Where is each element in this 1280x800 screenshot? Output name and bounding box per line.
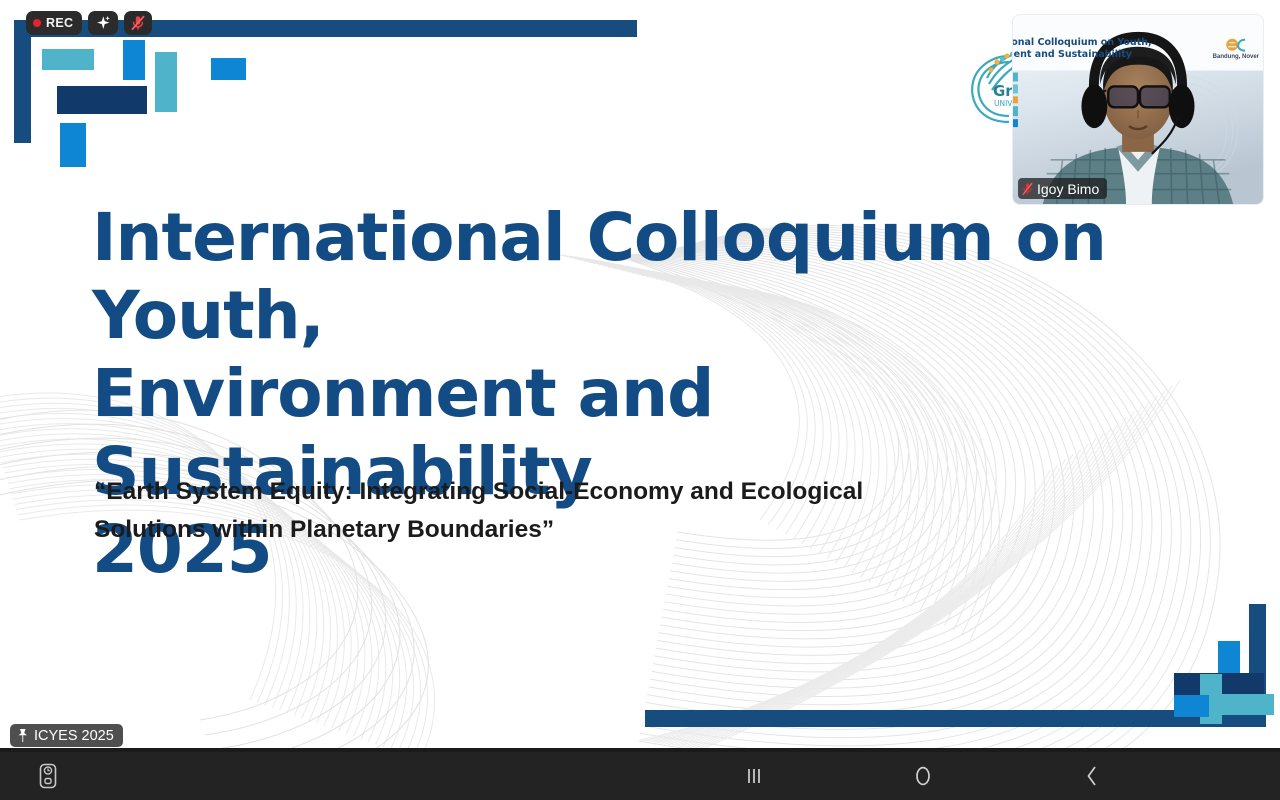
recents-icon [743, 765, 765, 787]
pip-background-venue-text: Bandung, Nover [1213, 54, 1259, 60]
microphone-muted-icon [129, 14, 147, 32]
pin-icon [16, 728, 29, 743]
slide-left-frame [14, 20, 31, 143]
system-navigation-bar [0, 752, 1280, 800]
deco-block-blue-1 [123, 40, 145, 80]
back-button[interactable] [1062, 752, 1122, 800]
deco-block-blue-5 [1174, 695, 1209, 717]
sparkle-icon [94, 14, 112, 32]
deco-block-teal-1 [42, 49, 94, 70]
screenshot-icon [36, 763, 60, 789]
deco-block-navy-1 [57, 86, 147, 114]
participant-name-badge: Igoy Bimo [1018, 178, 1107, 199]
chevron-left-icon [1082, 764, 1102, 788]
home-circle-icon [912, 764, 934, 788]
recents-button[interactable] [724, 752, 784, 800]
screenshot-button[interactable] [18, 752, 78, 800]
record-dot-icon [33, 19, 41, 27]
recording-toolbar: REC [26, 11, 152, 35]
participant-name: Igoy Bimo [1037, 181, 1099, 197]
slide-bottom-bar [645, 710, 1266, 727]
pin-label-text: ICYES 2025 [34, 728, 114, 744]
pin-label[interactable]: ICYES 2025 [10, 724, 123, 747]
screen-root: Grad UNIVE International Colloquium on Y… [0, 0, 1280, 800]
mute-microphone-button[interactable] [124, 11, 152, 35]
participant-video-tile[interactable]: ational Colloquium on Youth, nment and S… [1012, 14, 1264, 205]
pip-background-slide-text: ational Colloquium on Youth, nment and S… [1012, 37, 1197, 61]
deco-block-teal-2 [155, 52, 177, 112]
microphone-muted-icon [1022, 182, 1033, 196]
deco-block-blue-2 [211, 58, 246, 80]
deco-block-blue-3 [60, 123, 86, 167]
sparkle-button[interactable] [88, 11, 118, 35]
home-button[interactable] [893, 752, 953, 800]
slide-subtitle: “Earth System Equity: Integrating Social… [94, 473, 924, 549]
record-label: REC [46, 16, 73, 30]
recording-indicator[interactable]: REC [26, 11, 82, 35]
deco-block-teal-4 [1222, 694, 1274, 715]
